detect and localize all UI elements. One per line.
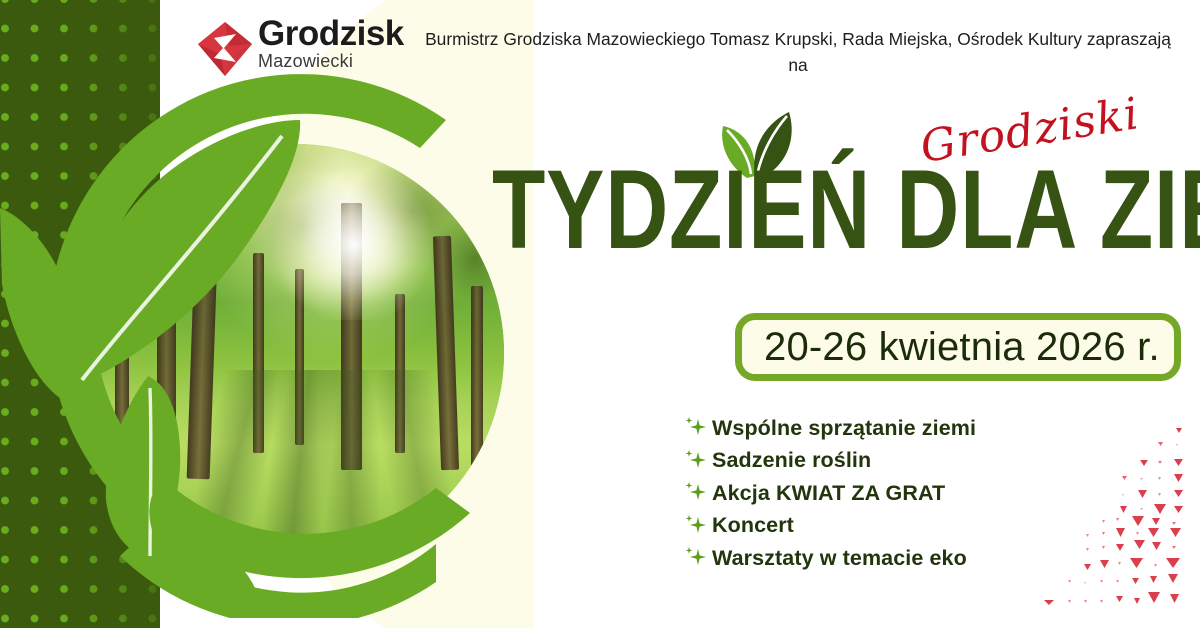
list-item-label: Koncert bbox=[712, 513, 794, 538]
red-triangle-scatter-pattern bbox=[1030, 428, 1200, 628]
sparkle-icon bbox=[678, 448, 712, 474]
page-title: TYDZIEŃ DLA ZIEMI bbox=[492, 158, 1038, 261]
list-item-label: Wspólne sprzątanie ziemi bbox=[712, 416, 976, 441]
grodzisk-logo[interactable]: Grodzisk Mazowiecki bbox=[196, 18, 408, 80]
sparkle-icon bbox=[678, 545, 712, 571]
date-text: 20-26 kwietnia 2026 r. bbox=[742, 325, 1160, 370]
sparkle-icon bbox=[678, 513, 712, 539]
poster-canvas: Grodzisk Mazowiecki Burmistrz Grodziska … bbox=[0, 0, 1200, 628]
logo-subtitle: Mazowiecki bbox=[258, 52, 404, 70]
list-item-label: Akcja KWIAT ZA GRAT bbox=[712, 481, 945, 506]
logo-name: Grodzisk bbox=[258, 16, 404, 51]
logo-wordmark: Grodzisk Mazowiecki bbox=[258, 16, 404, 70]
sparkle-icon bbox=[678, 480, 712, 506]
leaf-ring-icon bbox=[0, 58, 520, 618]
list-item-label: Warsztaty w temacie eko bbox=[712, 546, 967, 571]
invitation-line-1: Burmistrz Grodziska Mazowieckiego Tomasz… bbox=[425, 29, 1082, 49]
grodzisk-diamond-logo-icon bbox=[196, 20, 254, 78]
date-badge: 20-26 kwietnia 2026 r. bbox=[735, 313, 1181, 381]
forest-photo-group bbox=[0, 58, 520, 618]
list-item-label: Sadzenie roślin bbox=[712, 448, 871, 473]
sparkle-icon bbox=[678, 415, 712, 441]
invitation-text: Burmistrz Grodziska Mazowieckiego Tomasz… bbox=[418, 26, 1178, 78]
